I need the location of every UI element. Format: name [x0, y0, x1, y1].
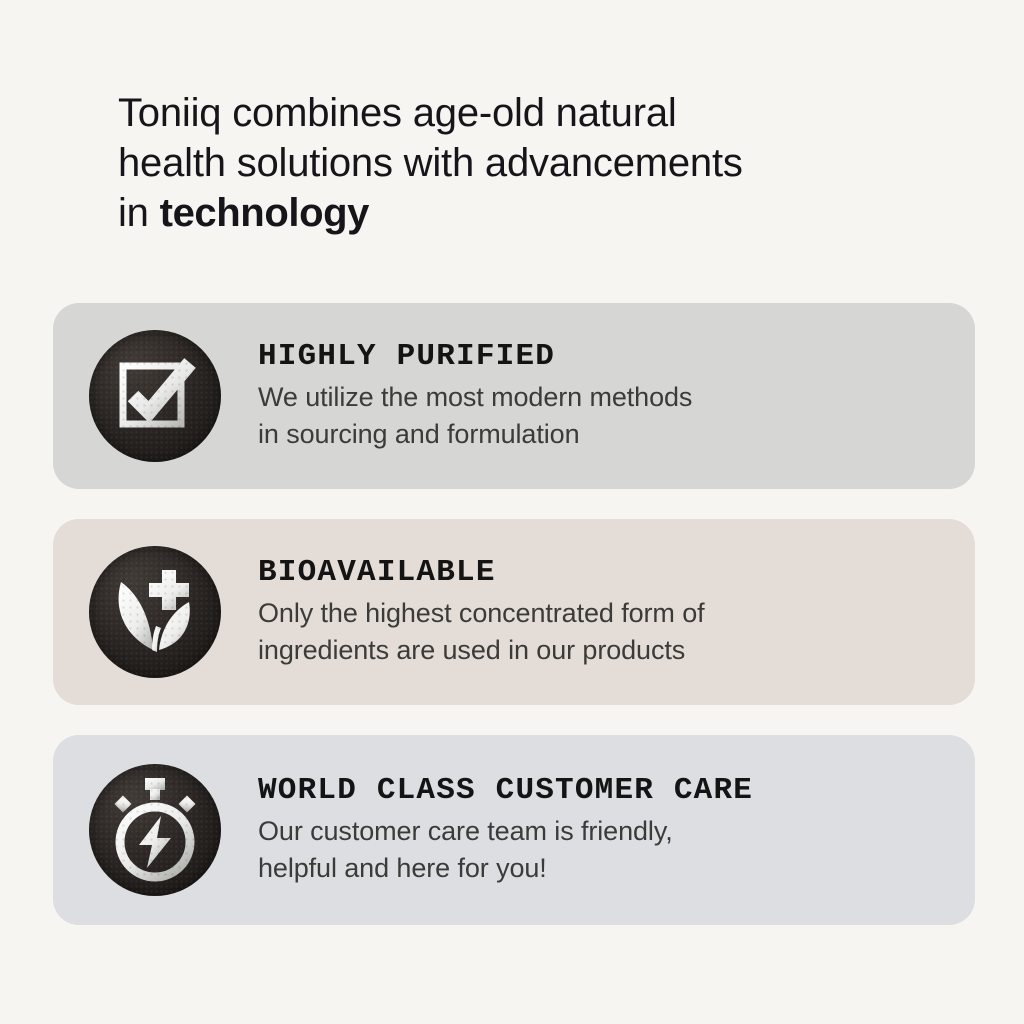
- headline-emphasis-technology: technology: [160, 191, 369, 235]
- leaf-plus-icon: [89, 546, 221, 678]
- checkbox-check-icon: [89, 330, 221, 462]
- feature-card-text: BIOAVAILABLE Only the highest concentrat…: [258, 555, 951, 669]
- feature-card-bioavailable: BIOAVAILABLE Only the highest concentrat…: [53, 519, 975, 705]
- feature-body-line-2: ingredients are used in our products: [258, 632, 951, 669]
- feature-card-text: WORLD CLASS CUSTOMER CARE Our customer c…: [258, 773, 951, 887]
- feature-body: We utilize the most modern methods in so…: [258, 379, 951, 453]
- feature-title: WORLD CLASS CUSTOMER CARE: [258, 773, 951, 809]
- feature-title: BIOAVAILABLE: [258, 555, 951, 591]
- feature-card-text: HIGHLY PURIFIED We utilize the most mode…: [258, 339, 951, 453]
- headline-line-3: in technology: [118, 188, 878, 238]
- feature-body-line-1: Only the highest concentrated form of: [258, 595, 951, 632]
- stopwatch-bolt-icon: [89, 764, 221, 896]
- feature-body: Our customer care team is friendly, help…: [258, 813, 951, 887]
- feature-body-line-1: We utilize the most modern methods: [258, 379, 951, 416]
- page-headline: Toniiq combines age-old natural health s…: [118, 88, 878, 238]
- infographic-page: Toniiq combines age-old natural health s…: [0, 0, 1024, 1024]
- feature-title: HIGHLY PURIFIED: [258, 339, 951, 375]
- feature-card-world-class-customer-care: WORLD CLASS CUSTOMER CARE Our customer c…: [53, 735, 975, 925]
- headline-line-3-prefix: in: [118, 191, 160, 235]
- feature-body-line-2: helpful and here for you!: [258, 850, 951, 887]
- headline-line-1: Toniiq combines age-old natural: [118, 88, 878, 138]
- headline-line-2: health solutions with advancements: [118, 138, 878, 188]
- feature-body: Only the highest concentrated form of in…: [258, 595, 951, 669]
- feature-body-line-2: in sourcing and formulation: [258, 416, 951, 453]
- feature-card-highly-purified: HIGHLY PURIFIED We utilize the most mode…: [53, 303, 975, 489]
- feature-body-line-1: Our customer care team is friendly,: [258, 813, 951, 850]
